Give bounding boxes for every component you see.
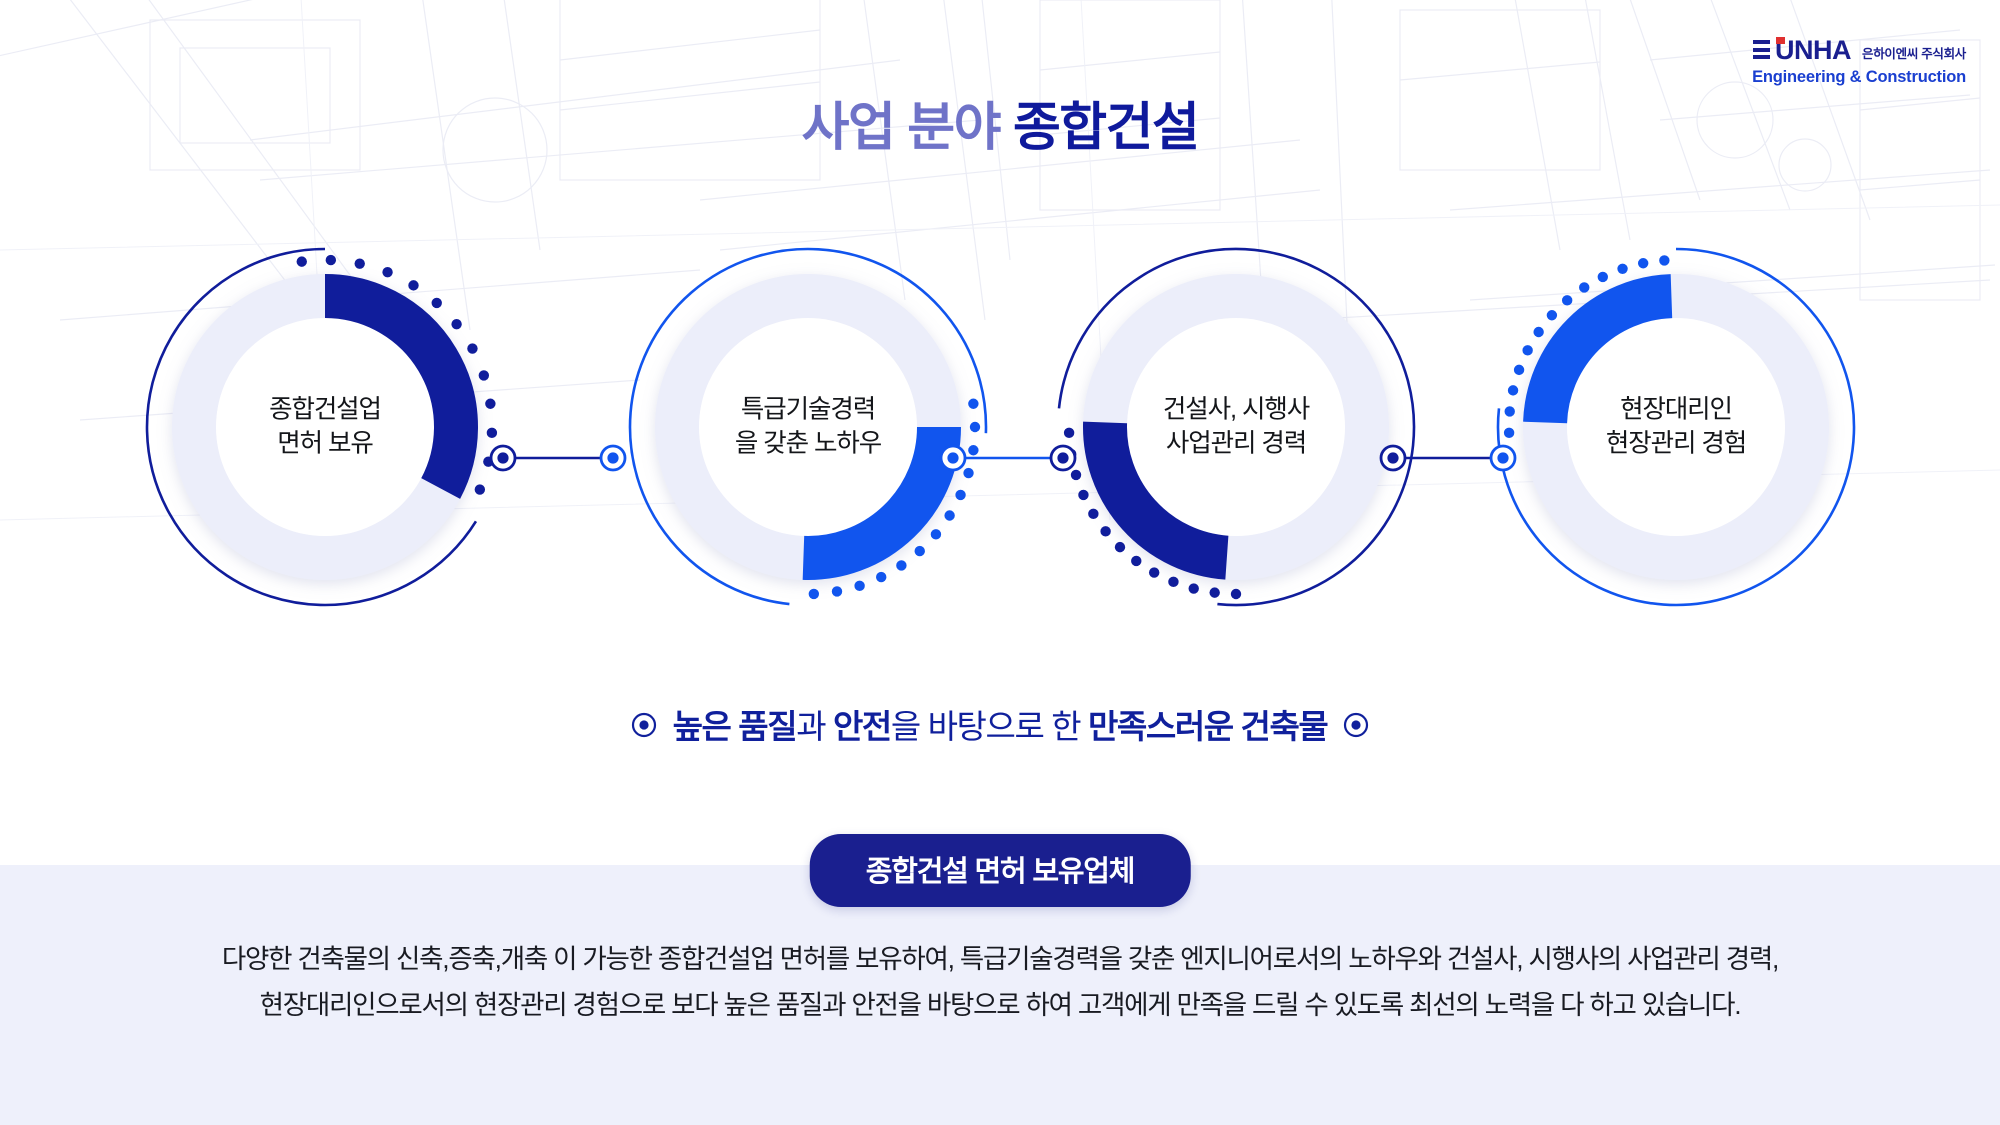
process-donut-row: 종합건설업 면허 보유 특급기술경력 을 갖춘 노하우 건설사, 시행사 사업관… [0, 232, 2000, 622]
donut-card-3[interactable]: 건설사, 시행사 사업관리 경력 [1041, 232, 1431, 622]
connector-2-3 [938, 443, 1078, 473]
connector-3-4 [1378, 443, 1518, 473]
status-badge: 종합건설 면허 보유업체 [810, 834, 1191, 907]
tagline: 높은 품질과 안전을 바탕으로 한 만족스러운 건축물 [0, 700, 2000, 748]
donut-label-1: 종합건설업 면허 보유 [130, 393, 520, 462]
body-copy-line-2: 현장대리인으로서의 현장관리 경험으로 보다 높은 품질과 안전을 바탕으로 하… [35, 983, 1965, 1029]
body-copy-line-1: 다양한 건축물의 신축,증축,개축 이 가능한 종합건설업 면허를 보유하여, … [35, 937, 1965, 983]
target-dot-icon-left [631, 708, 657, 746]
donut-card-2[interactable]: 특급기술경력 을 갖춘 노하우 [613, 232, 1003, 622]
donut-label-3: 건설사, 시행사 사업관리 경력 [1041, 393, 1431, 462]
tagline-seg-5: 만족스러운 건축물 [1088, 708, 1327, 745]
slide-canvas: UNHA 은하이엔씨 주식회사 Engineering & Constructi… [0, 0, 2000, 1125]
donut-label-4: 현장대리인 현장관리 경험 [1481, 393, 1871, 462]
logo-mark-text: UNHA [1775, 38, 1851, 64]
logo-korean-name: 은하이엔씨 주식회사 [1862, 48, 1966, 61]
tagline-seg-2: 과 [796, 708, 833, 745]
tagline-seg-4: 을 바탕으로 한 [891, 708, 1088, 745]
tagline-seg-1: 높은 품질 [673, 708, 797, 745]
page-title-light: 사업 분야 [802, 99, 1000, 157]
target-dot-icon-right [1343, 708, 1369, 746]
body-copy: 다양한 건축물의 신축,증축,개축 이 가능한 종합건설업 면허를 보유하여, … [35, 937, 1965, 1028]
logo-top-row: UNHA 은하이엔씨 주식회사 [1752, 38, 1966, 64]
page-title: 사업 분야 종합건설 [0, 85, 2000, 160]
page-title-dark: 종합건설 [1013, 99, 1198, 157]
tagline-seg-3: 안전 [833, 708, 891, 745]
logo-english-tagline: Engineering & Construction [1752, 69, 1966, 86]
bottom-panel: 종합건설 면허 보유업체 다양한 건축물의 신축,증축,개축 이 가능한 종합건… [0, 865, 2000, 1125]
connector-1-2 [488, 443, 628, 473]
logo-wordmark: UNHA [1753, 38, 1851, 64]
logo-red-accent-icon [1776, 37, 1785, 44]
donut-card-1[interactable]: 종합건설업 면허 보유 [130, 232, 520, 622]
brand-logo: UNHA 은하이엔씨 주식회사 Engineering & Constructi… [1752, 38, 1966, 85]
donut-card-4[interactable]: 현장대리인 현장관리 경험 [1481, 232, 1871, 622]
logo-bars-icon [1753, 40, 1770, 59]
